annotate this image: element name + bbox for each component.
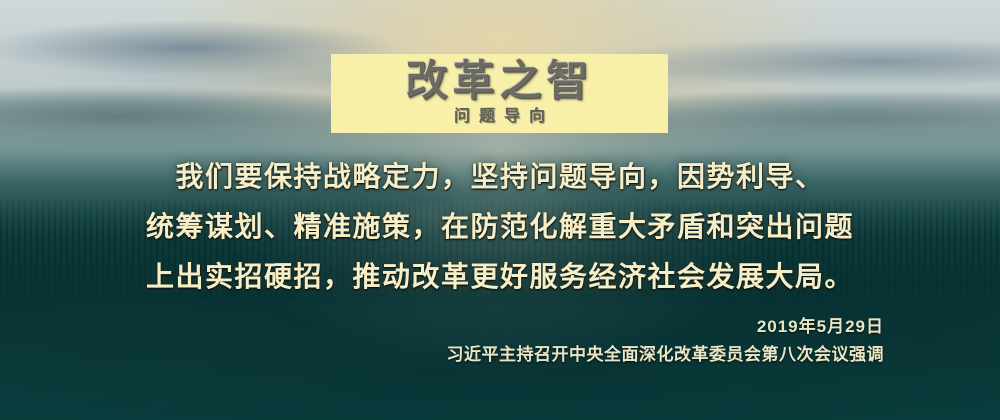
quote-body: 我们要保持战略定力，坚持问题导向，因势利导、 统筹谋划、精准施策，在防范化解重大…: [0, 152, 1000, 302]
title-main-text: 改革之智: [405, 56, 593, 106]
footer-attribution: 2019年5月29日 习近平主持召开中央全面深化改革委员会第八次会议强调: [0, 313, 1000, 369]
footer-source: 习近平主持召开中央全面深化改革委员会第八次会议强调: [0, 341, 884, 369]
quote-line-3: 上出实招硬招，推动改革更好服务经济社会发展大局。: [0, 252, 1000, 302]
policy-quote-banner: 改革之智 问题导向 我们要保持战略定力，坚持问题导向，因势利导、 统筹谋划、精准…: [0, 0, 1000, 420]
footer-date: 2019年5月29日: [0, 313, 884, 341]
quote-line-1: 我们要保持战略定力，坚持问题导向，因势利导、: [0, 152, 1000, 202]
title-subtitle-text: 问题导向: [445, 106, 554, 128]
title-card: 改革之智 问题导向: [331, 54, 668, 133]
quote-line-2: 统筹谋划、精准施策，在防范化解重大矛盾和突出问题: [0, 202, 1000, 252]
